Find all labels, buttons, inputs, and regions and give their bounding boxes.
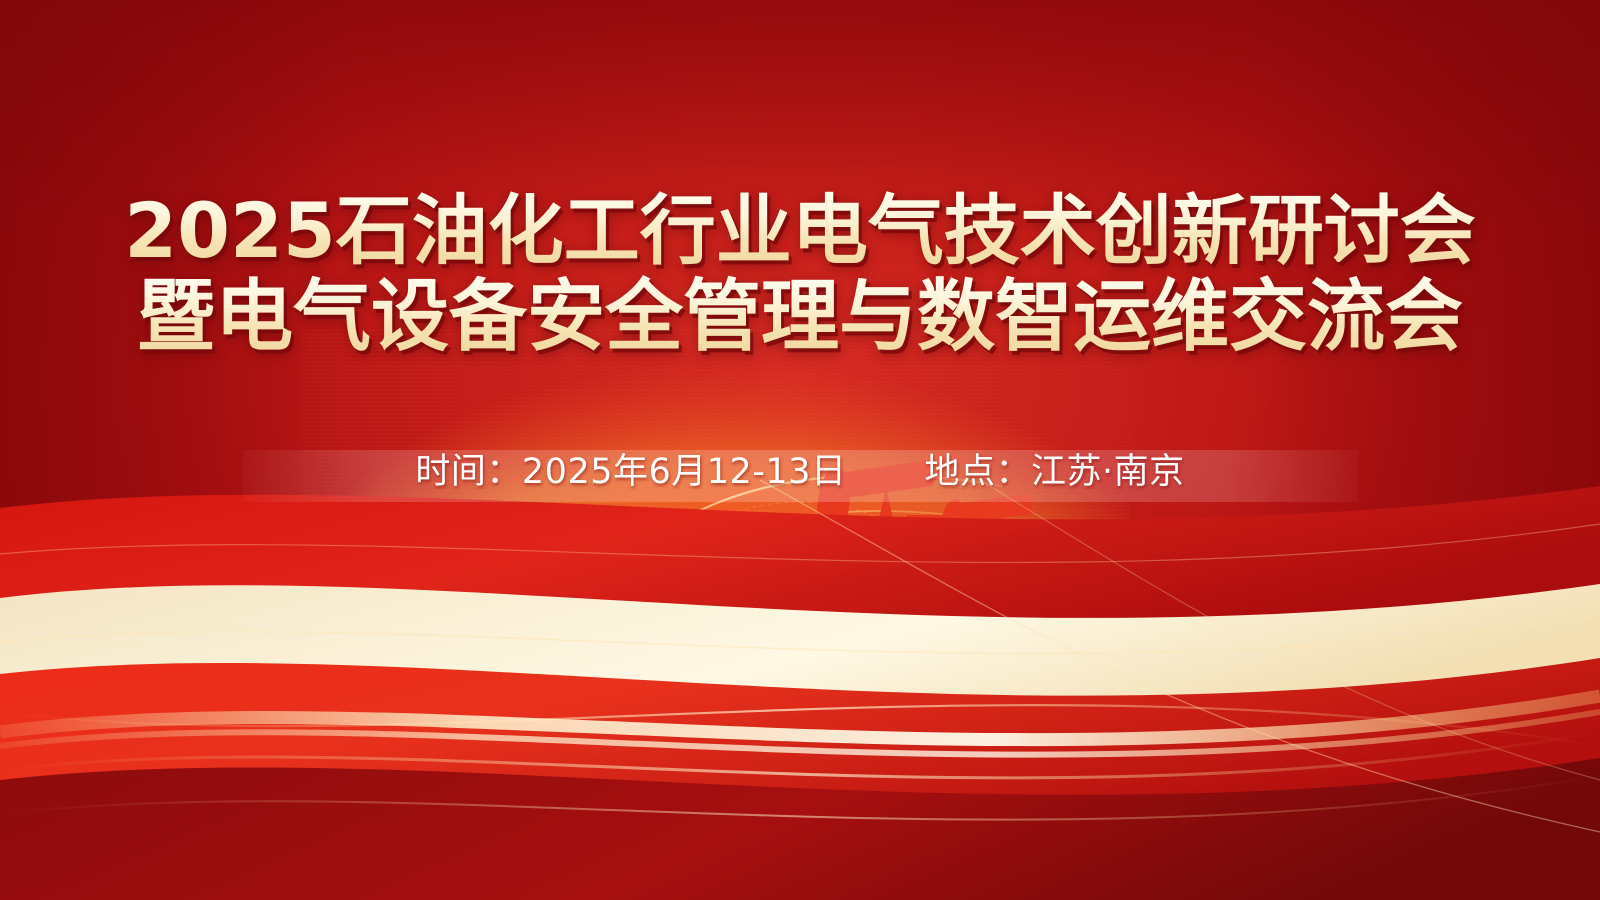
info-row: 时间：2025年6月12-13日 地点：江苏·南京 bbox=[0, 443, 1600, 494]
event-location: 地点：江苏·南京 bbox=[924, 443, 1184, 494]
banner-title: 2025石油化工行业电气技术创新研讨会 暨电气设备安全管理与数智运维交流会 bbox=[0, 188, 1600, 360]
title-line-2: 暨电气设备安全管理与数智运维交流会 bbox=[0, 274, 1600, 360]
ribbon-waves bbox=[0, 480, 1600, 900]
conference-banner: 2025石油化工行业电气技术创新研讨会 暨电气设备安全管理与数智运维交流会 时间… bbox=[0, 0, 1600, 900]
title-line-1: 2025石油化工行业电气技术创新研讨会 bbox=[0, 188, 1600, 274]
event-date: 时间：2025年6月12-13日 bbox=[415, 443, 846, 494]
